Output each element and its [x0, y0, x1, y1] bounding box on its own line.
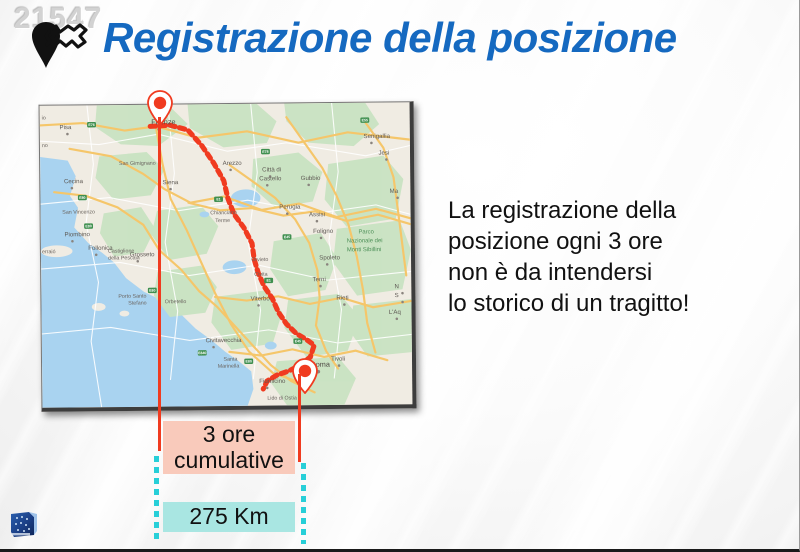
map-city-dot	[370, 142, 373, 145]
map-road-shield-label: E76	[88, 123, 94, 127]
map-city-label: Gubbio	[301, 175, 321, 182]
map-city-label: Pisa	[59, 124, 72, 131]
map-city-label: San Gimignano	[119, 161, 156, 167]
map-city-dot	[169, 188, 172, 191]
callout-distance: 275 Km	[163, 502, 295, 532]
map-city-dot	[316, 220, 319, 223]
body-text-line-3: non è da intendersi	[448, 258, 778, 289]
map-city-dot	[319, 285, 322, 288]
map-city-label: Orbetello	[165, 299, 187, 305]
map-city-label: Assisi	[309, 211, 325, 218]
map-road-shield-label: E78	[262, 150, 268, 154]
map-city-label: no	[42, 143, 48, 149]
map-city-label: Perugia	[279, 204, 301, 211]
callout-hours-line2: cumulative	[174, 447, 284, 473]
map-road-shield-label: E45	[284, 235, 290, 239]
map-city-label: N	[394, 283, 398, 290]
map-city-label: Ma	[390, 188, 399, 195]
map-city-label: erraió	[42, 249, 56, 255]
map-city-label: Siena	[163, 179, 179, 186]
map-park-label: Monti Sibillini	[347, 247, 382, 253]
map-park-label: Parco	[358, 229, 374, 235]
map-city-label: Stefano	[128, 300, 146, 306]
map-city-label: Civitavecchia	[206, 337, 243, 344]
map-city-label: Arezzo	[223, 160, 243, 167]
map-city-label: Terni	[313, 276, 326, 283]
body-text-line-1: La registrazione della	[448, 196, 778, 227]
map-city-dot	[396, 318, 399, 321]
map-city-label: Foligno	[313, 228, 334, 235]
guide-line-red-right	[298, 374, 301, 462]
map-city-dot	[257, 304, 260, 307]
map-city-dot	[71, 187, 74, 190]
map-city-label: Jesi	[378, 150, 389, 157]
map-city-label: Marinella	[218, 364, 240, 370]
company-emblem-icon	[8, 510, 41, 540]
map-city-dot	[229, 169, 232, 172]
guide-line-dashed-left	[154, 456, 159, 544]
map-city-label: Porto Santo	[118, 294, 146, 300]
map-city-label: Senigallia	[363, 133, 390, 140]
guide-line-dashed-right	[301, 463, 306, 544]
map-city-label: Civita	[254, 272, 267, 278]
map-park-label: Nazionale dei	[347, 238, 383, 244]
map-city-label: Spoleto	[319, 254, 340, 261]
map-road-shield-label: E80	[79, 196, 85, 200]
map-road-shield-label: E1	[216, 197, 220, 201]
map-city-label: Tivoli	[331, 356, 345, 363]
map-road-shield-label: E45	[295, 339, 301, 343]
map-city-dot	[66, 133, 69, 136]
map-city-label: Rieti	[336, 295, 348, 302]
route-map[interactable]: PisaionoCecinaSan VincenzoPiombinoFollon…	[39, 101, 417, 412]
map-city-label: S	[395, 292, 399, 299]
map-city-label: Città di	[262, 166, 281, 173]
map-city-dot	[396, 196, 399, 199]
map-city-label: Viterbo	[251, 295, 271, 302]
map-city-label: Piombino	[64, 231, 90, 238]
callout-hours-line1: 3 ore	[203, 421, 255, 447]
map-city-dot	[266, 184, 269, 187]
map-pin-icon-roma[interactable]	[292, 358, 318, 394]
map-city-label: Cecina	[64, 178, 84, 185]
map-city-dot	[326, 263, 329, 266]
guide-line-red-left	[158, 117, 161, 451]
map-city-dot	[307, 184, 310, 187]
map-road-shield-label: E55	[362, 118, 368, 122]
map-city-label: della Pescaia	[108, 255, 140, 261]
map-city-label: Fiumicino	[259, 378, 286, 385]
map-city-label: Chianciano	[210, 210, 237, 216]
map-city-label: Lido di Ostia	[267, 395, 297, 401]
body-text-line-4: lo storico di un tragitto!	[448, 289, 778, 320]
map-city-label: San Vincenzo	[62, 209, 95, 215]
map-city-label: Castiglione	[108, 248, 134, 254]
map-city-dot	[343, 303, 346, 306]
map-road-shield-label: E1	[266, 279, 270, 283]
location-pin-route-icon	[16, 8, 90, 80]
map-road-shield-label: E840	[198, 351, 206, 355]
map-city-dot	[385, 158, 388, 161]
map-city-dot	[266, 387, 269, 390]
body-text-block: La registrazione della posizione ogni 3 …	[448, 196, 778, 320]
map-city-label: Orvieto	[251, 257, 268, 263]
map-city-label: Castello	[259, 175, 282, 182]
map-road-shield-label: E80	[85, 224, 91, 228]
map-city-label: L'Aq	[389, 309, 401, 316]
map-city-label: io	[42, 116, 46, 122]
page-title: Registrazione della posizione	[103, 14, 677, 62]
map-city-dot	[320, 237, 323, 240]
map-city-dot	[212, 346, 215, 349]
map-city-dot	[286, 212, 289, 215]
map-city-label: Santa	[224, 357, 238, 363]
map-road-shield-label: E80	[246, 359, 252, 363]
map-road-shield-label: E80	[149, 289, 155, 293]
map-city-dot	[338, 364, 341, 367]
map-city-dot	[71, 240, 74, 243]
body-text-line-2: posizione ogni 3 ore	[448, 227, 778, 258]
callout-distance-value: 275 Km	[189, 504, 268, 530]
map-city-dot	[95, 253, 98, 256]
callout-cumulative-hours: 3 ore cumulative	[163, 421, 295, 474]
slide-canvas: 21547 Registrazione della posizione	[0, 0, 800, 552]
map-city-dot	[401, 301, 404, 304]
map-city-dot	[401, 292, 404, 295]
map-city-label: Terme	[215, 218, 230, 224]
